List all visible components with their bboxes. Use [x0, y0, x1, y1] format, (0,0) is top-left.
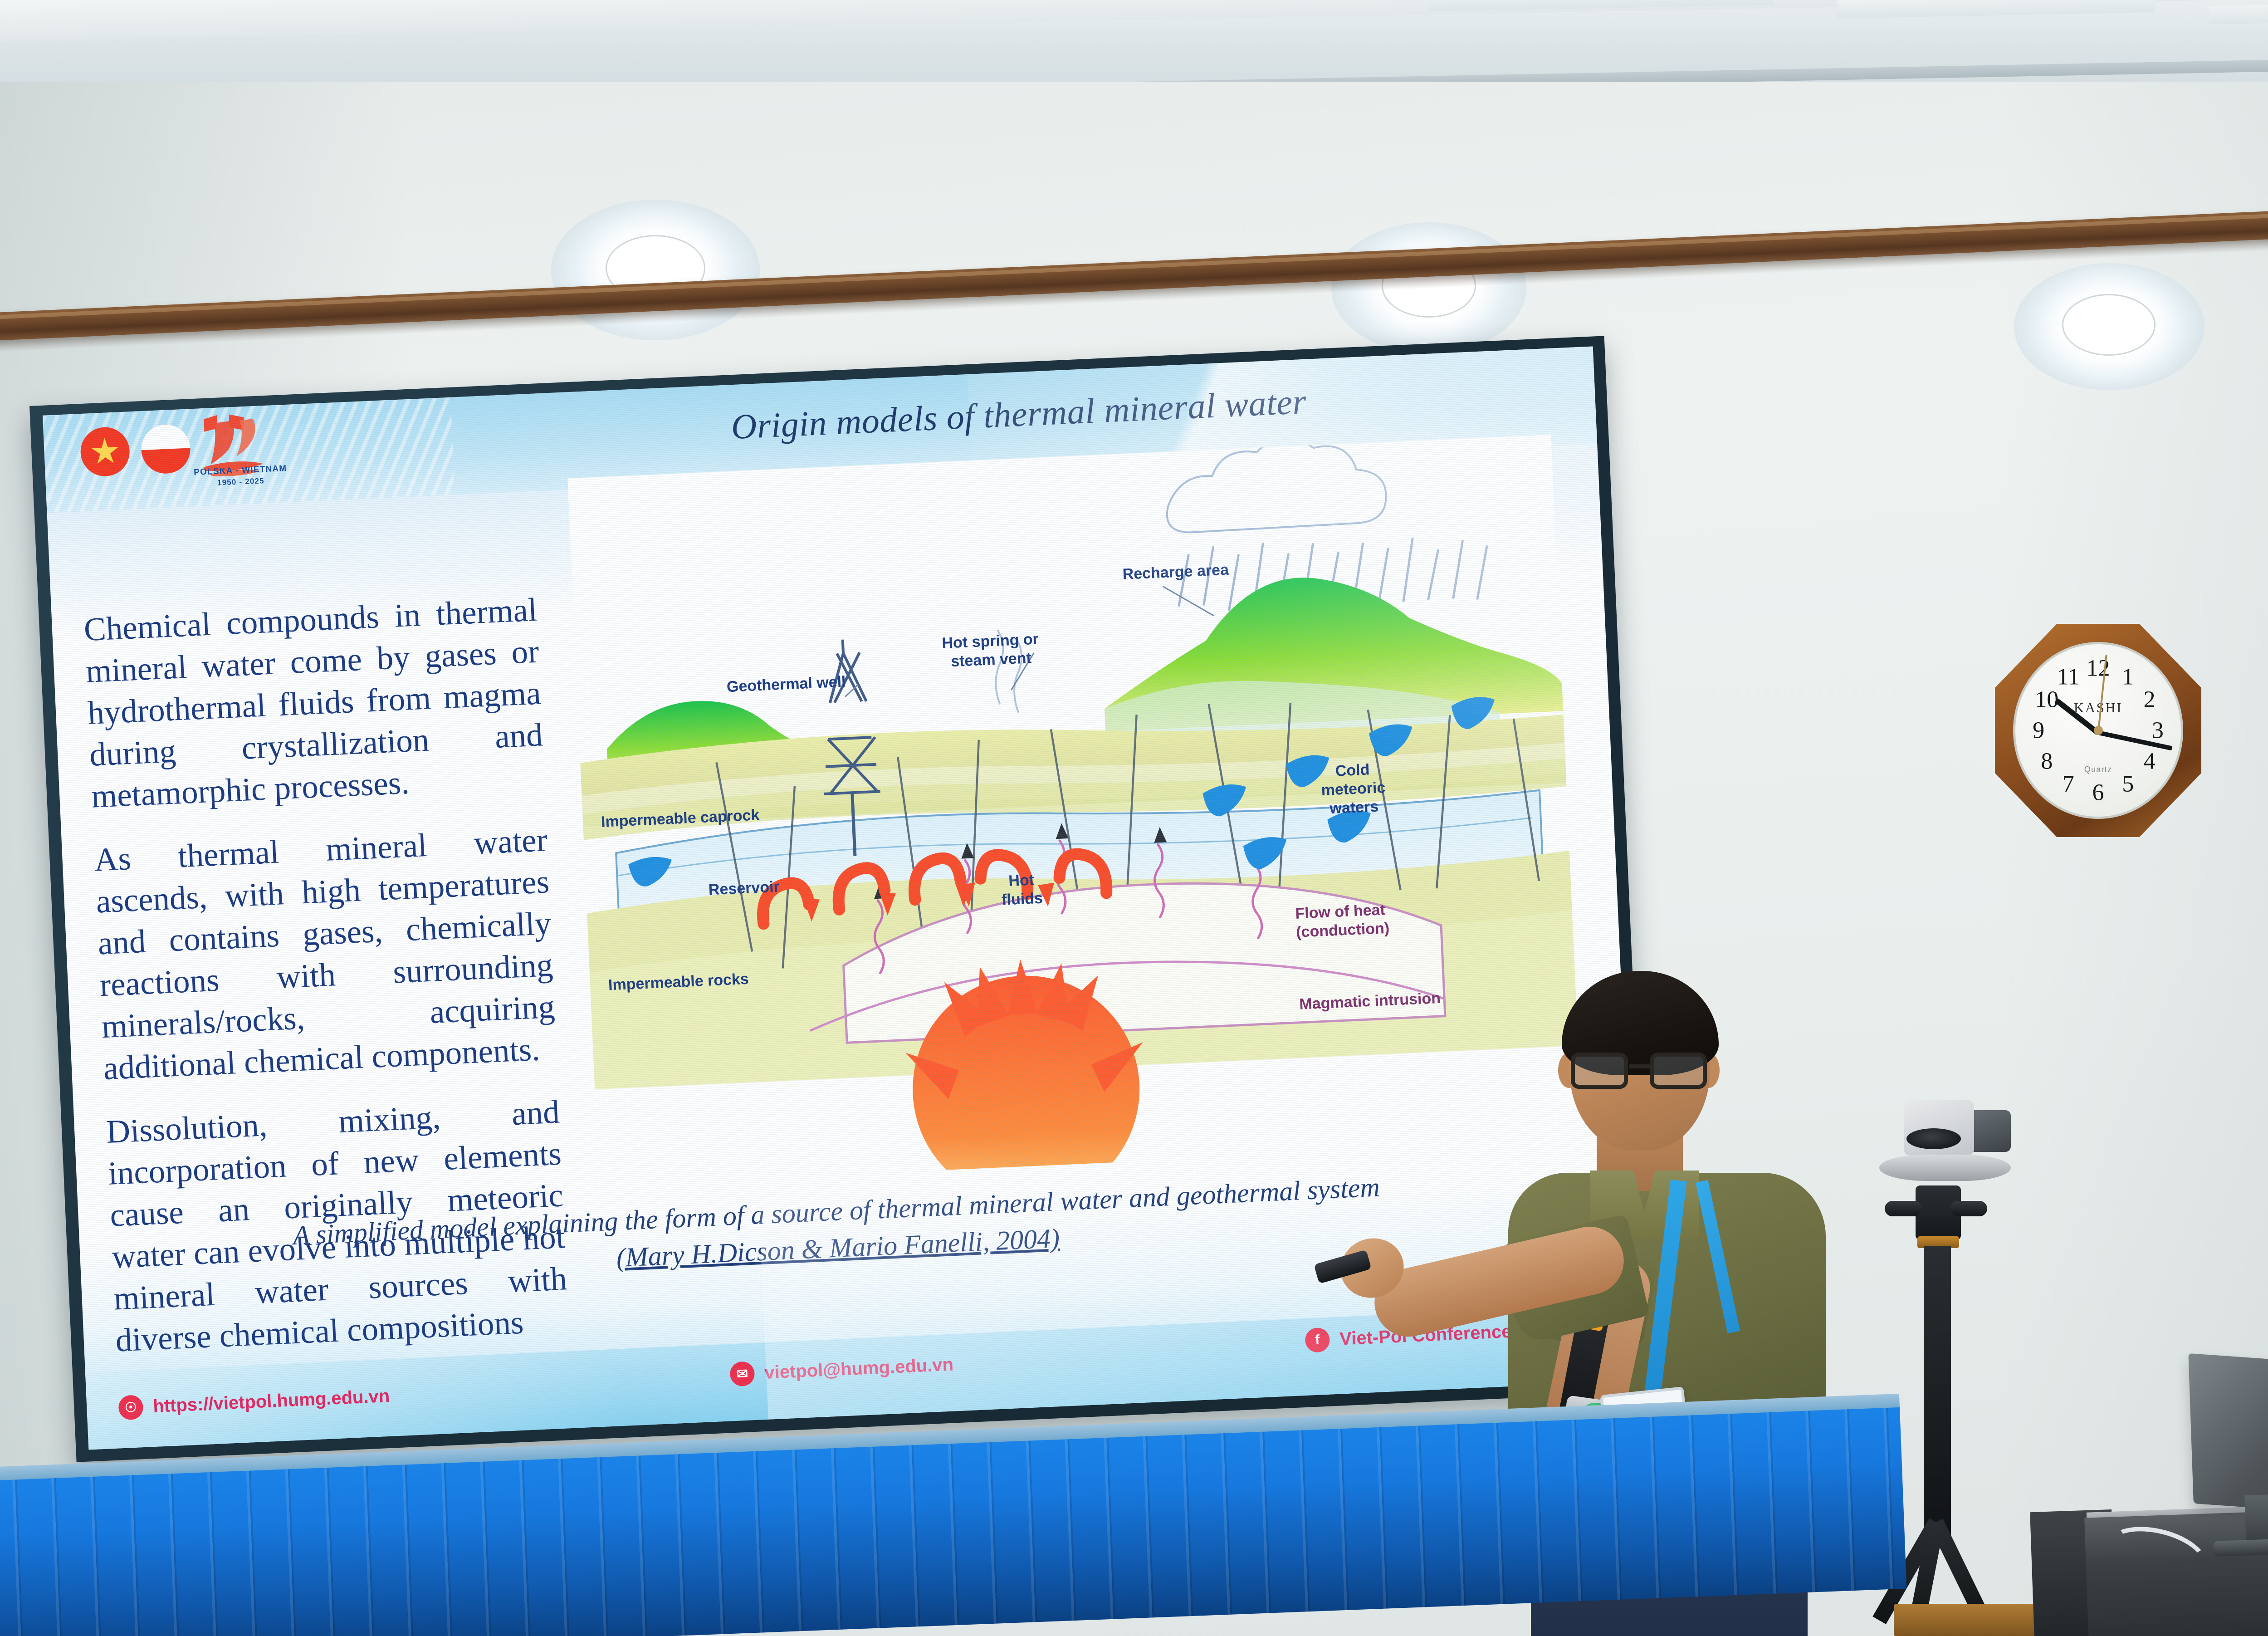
tripod-knob-right[interactable]: [1950, 1201, 1987, 1216]
clock-numeral-9: 9: [2033, 717, 2044, 744]
clock-numeral-10: 10: [2035, 686, 2058, 713]
poland-flag-icon: [140, 423, 191, 475]
clock-numeral-11: 11: [2057, 664, 2080, 691]
glasses-lens-right: [1650, 1053, 1707, 1089]
clock-numeral-3: 3: [2152, 717, 2164, 744]
conference-room-scene: POLSKA - WIETNAM 1950 - 2025 Origin mode…: [0, 0, 2268, 1636]
clock-brand-label: KASHI: [2074, 700, 2122, 716]
envelope-icon: ✉: [729, 1361, 755, 1386]
clock-numeral-1: 1: [2122, 664, 2134, 691]
geothermal-system-diagram: Recharge area Hot spring or steam vent G…: [567, 435, 1582, 1185]
clock-numeral-5: 5: [2122, 770, 2134, 797]
diagram-label-hot-spring: Hot spring or steam vent: [915, 629, 1066, 672]
camera-lens: [1906, 1128, 1961, 1149]
facebook-icon: f: [1305, 1327, 1330, 1353]
clock-numeral-6: 6: [2092, 779, 2104, 806]
glasses-lens-left: [1571, 1053, 1628, 1089]
clock-movement-label: Quartz: [2084, 765, 2112, 774]
globe-icon: ☉: [118, 1395, 143, 1420]
monitor-base: [2213, 1538, 2268, 1557]
diagram-label-cold-meteoric-waters: Cold meteoric waters: [1293, 759, 1413, 819]
glasses-bridge: [1629, 1064, 1650, 1068]
vietnam-flag-icon: [79, 426, 131, 477]
clock-numeral-8: 8: [2041, 748, 2053, 775]
monitor-panel-back: [2188, 1353, 2268, 1514]
presentation-display[interactable]: POLSKA - WIETNAM 1950 - 2025 Origin mode…: [29, 406, 1606, 1477]
desktop-monitor[interactable]: [2191, 1359, 2268, 1549]
flag-group: [79, 423, 191, 477]
clock-face: KASHI Quartz 12 1 2 3 4 5 6 7 8 9 10 11: [2013, 642, 2183, 819]
tripod-center-column: [1924, 1246, 1951, 1537]
clock-numeral-4: 4: [2144, 748, 2156, 775]
star-icon: [90, 437, 120, 466]
clock-numeral-2: 2: [2144, 686, 2156, 713]
tripod-base-block: [1894, 1604, 2039, 1636]
ceiling-coffer: [1837, 0, 2155, 19]
ceiling-coffer: [2209, 1, 2268, 24]
poland-flag-white-half: [140, 423, 190, 450]
presenter-glasses: [1571, 1053, 1707, 1090]
slide-paragraph-1: Chemical compounds in thermal mineral wa…: [83, 589, 545, 818]
tripod-knob-left[interactable]: [1885, 1201, 1922, 1216]
diagram-label-reservoir: Reservoir: [708, 877, 780, 899]
slide-paragraph-2: As thermal mineral water ascends, with h…: [93, 819, 558, 1089]
camera-base: [1879, 1155, 2011, 1181]
clock-center-pin: [2094, 726, 2103, 735]
wall-clock: KASHI Quartz 12 1 2 3 4 5 6 7 8 9 10 11: [1995, 624, 2201, 837]
monitor-stand: [2244, 1494, 2268, 1545]
diagram-label-flow-of-heat: Flow of heat (conduction): [1295, 901, 1390, 942]
clock-numeral-7: 7: [2063, 770, 2074, 797]
ceiling-downlight-ring: [2062, 294, 2156, 356]
diagram-label-hot-fluids: Hot fluids: [985, 870, 1059, 910]
